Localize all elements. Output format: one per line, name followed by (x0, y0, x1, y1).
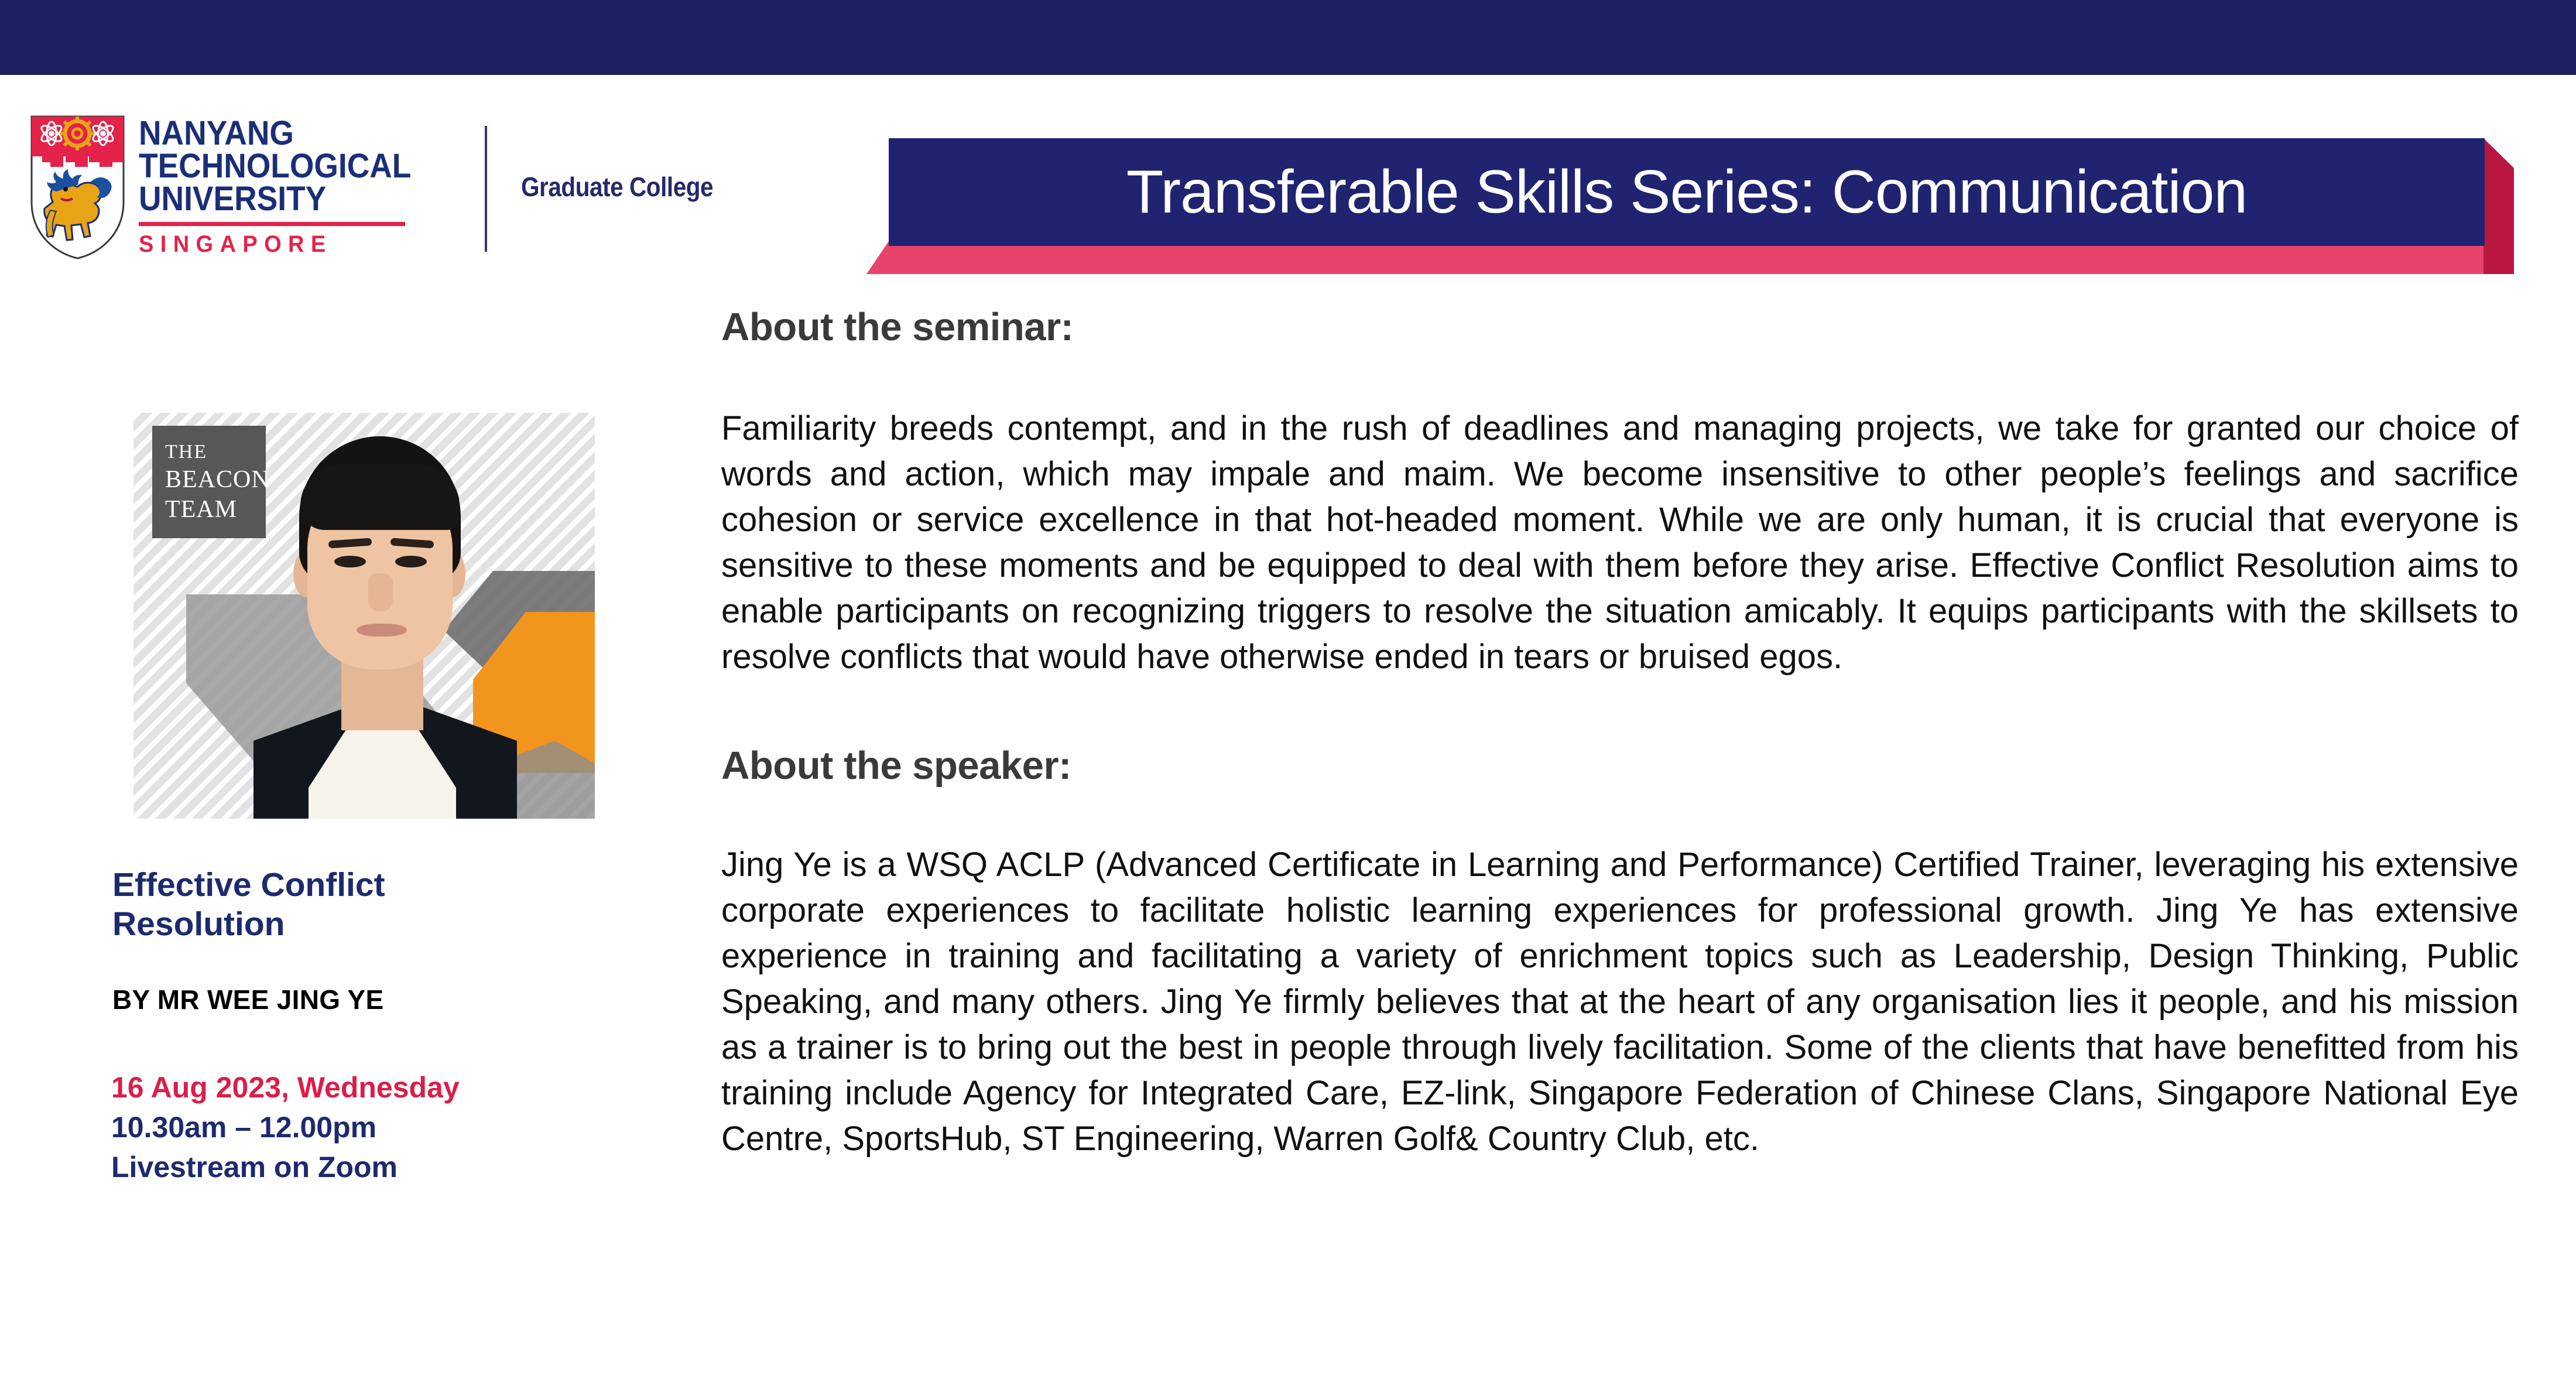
brand-divider (485, 126, 487, 252)
portrait-mouth (357, 624, 407, 637)
speaker-body-text: Jing Ye is a WSQ ACLP (Advanced Certific… (721, 842, 2519, 1162)
banner-bottom-face (866, 241, 2514, 274)
talk-title: Effective Conflict Resolution (112, 866, 522, 945)
portrait-eye-left (334, 556, 366, 567)
beacon-team-logo: THE BEACON TEAM (152, 426, 266, 538)
speaker-portrait-figure (259, 430, 505, 819)
speaker-byline: BY MR WEE JING YE (112, 984, 384, 1015)
event-date: 16 Aug 2023, Wednesday (111, 1068, 556, 1107)
brand-rule (139, 222, 405, 226)
event-time: 10.30am – 12.00pm (111, 1107, 556, 1147)
beacon-logo-line-1: THE (165, 439, 266, 465)
portrait-nose (368, 573, 393, 612)
ntu-brand-lockup: NANYANG TECHNOLOGICAL UNIVERSITY SINGAPO… (29, 114, 435, 261)
brand-line-1: NANYANG (139, 117, 411, 150)
ntu-crest-icon (29, 114, 126, 261)
portrait-fringe (300, 464, 460, 530)
content-column: About the seminar: Familiarity breeds co… (721, 305, 2519, 1162)
event-details: 16 Aug 2023, Wednesday 10.30am – 12.00pm… (111, 1068, 556, 1187)
series-title-banner: Transferable Skills Series: Communicatio… (889, 138, 2510, 274)
speaker-photo: THE BEACON TEAM (133, 413, 595, 819)
event-mode: Livestream on Zoom (111, 1147, 556, 1187)
beacon-logo-line-2: BEACON (165, 465, 266, 495)
banner-title-text: Transferable Skills Series: Communicatio… (889, 138, 2485, 246)
banner-side-face (2483, 138, 2514, 274)
brand-unit-label: Graduate College (521, 171, 713, 203)
seminar-heading: About the seminar: (721, 305, 2519, 350)
brand-country: SINGAPORE (139, 231, 420, 258)
speaker-heading: About the speaker: (721, 743, 2519, 788)
brand-line-2: TECHNOLOGICAL (139, 150, 411, 183)
beacon-logo-line-3: TEAM (165, 495, 266, 525)
portrait-eye-right (395, 556, 427, 567)
brand-line-3: UNIVERSITY (139, 183, 411, 216)
seminar-body-text: Familiarity breeds contempt, and in the … (721, 406, 2519, 680)
top-navy-bar (0, 0, 2576, 75)
